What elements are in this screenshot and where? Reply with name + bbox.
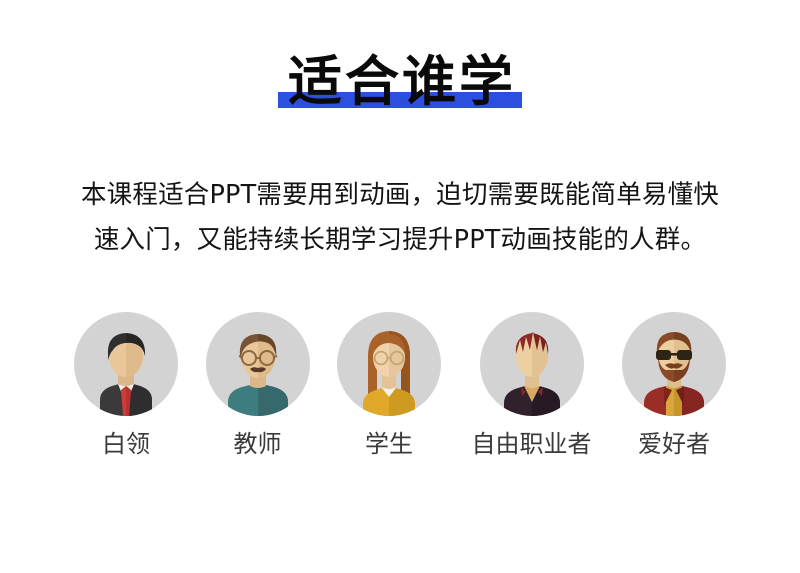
audience-item-teacher: 教师 [194, 312, 322, 456]
avatar-circle-white-collar [74, 312, 178, 416]
title-wrapper: 适合谁学 [278, 52, 522, 112]
body-line-1: 本课程适合PPT需要用到动画，迫切需要既能简单易懂快 [55, 173, 745, 218]
avatar-circle-freelancer [480, 312, 584, 416]
audience-label-teacher: 教师 [234, 432, 282, 456]
avatar-businessman-icon [74, 312, 178, 416]
audience-avatar-row: 白领 [62, 312, 738, 482]
avatar-female-student-icon [337, 312, 441, 416]
avatar-freelancer-spiky-hair-icon [480, 312, 584, 416]
audience-label-white-collar: 白领 [102, 432, 150, 456]
audience-item-student: 学生 [325, 312, 453, 456]
avatar-circle-student [337, 312, 441, 416]
audience-item-freelancer: 自由职业者 [457, 312, 607, 456]
avatar-circle-teacher [206, 312, 310, 416]
body-line-2: 速入门，又能持续长期学习提升PPT动画技能的人群。 [55, 218, 745, 263]
slide-canvas: 适合谁学 本课程适合PPT需要用到动画，迫切需要既能简单易懂快 速入门，又能持续… [0, 0, 800, 573]
audience-item-white-collar: 白领 [62, 312, 190, 456]
avatar-circle-enthusiast [622, 312, 726, 416]
avatar-teacher-glasses-mustache-icon [206, 312, 310, 416]
audience-label-freelancer: 自由职业者 [472, 432, 592, 456]
audience-label-enthusiast: 爱好者 [638, 432, 710, 456]
avatar-hipster-sunglasses-beard-icon [622, 312, 726, 416]
page-title: 适合谁学 [278, 50, 522, 113]
body-paragraph: 本课程适合PPT需要用到动画，迫切需要既能简单易懂快 速入门，又能持续长期学习提… [55, 173, 745, 263]
audience-item-enthusiast: 爱好者 [610, 312, 738, 456]
title-block: 适合谁学 [0, 52, 800, 112]
audience-label-student: 学生 [365, 432, 413, 456]
